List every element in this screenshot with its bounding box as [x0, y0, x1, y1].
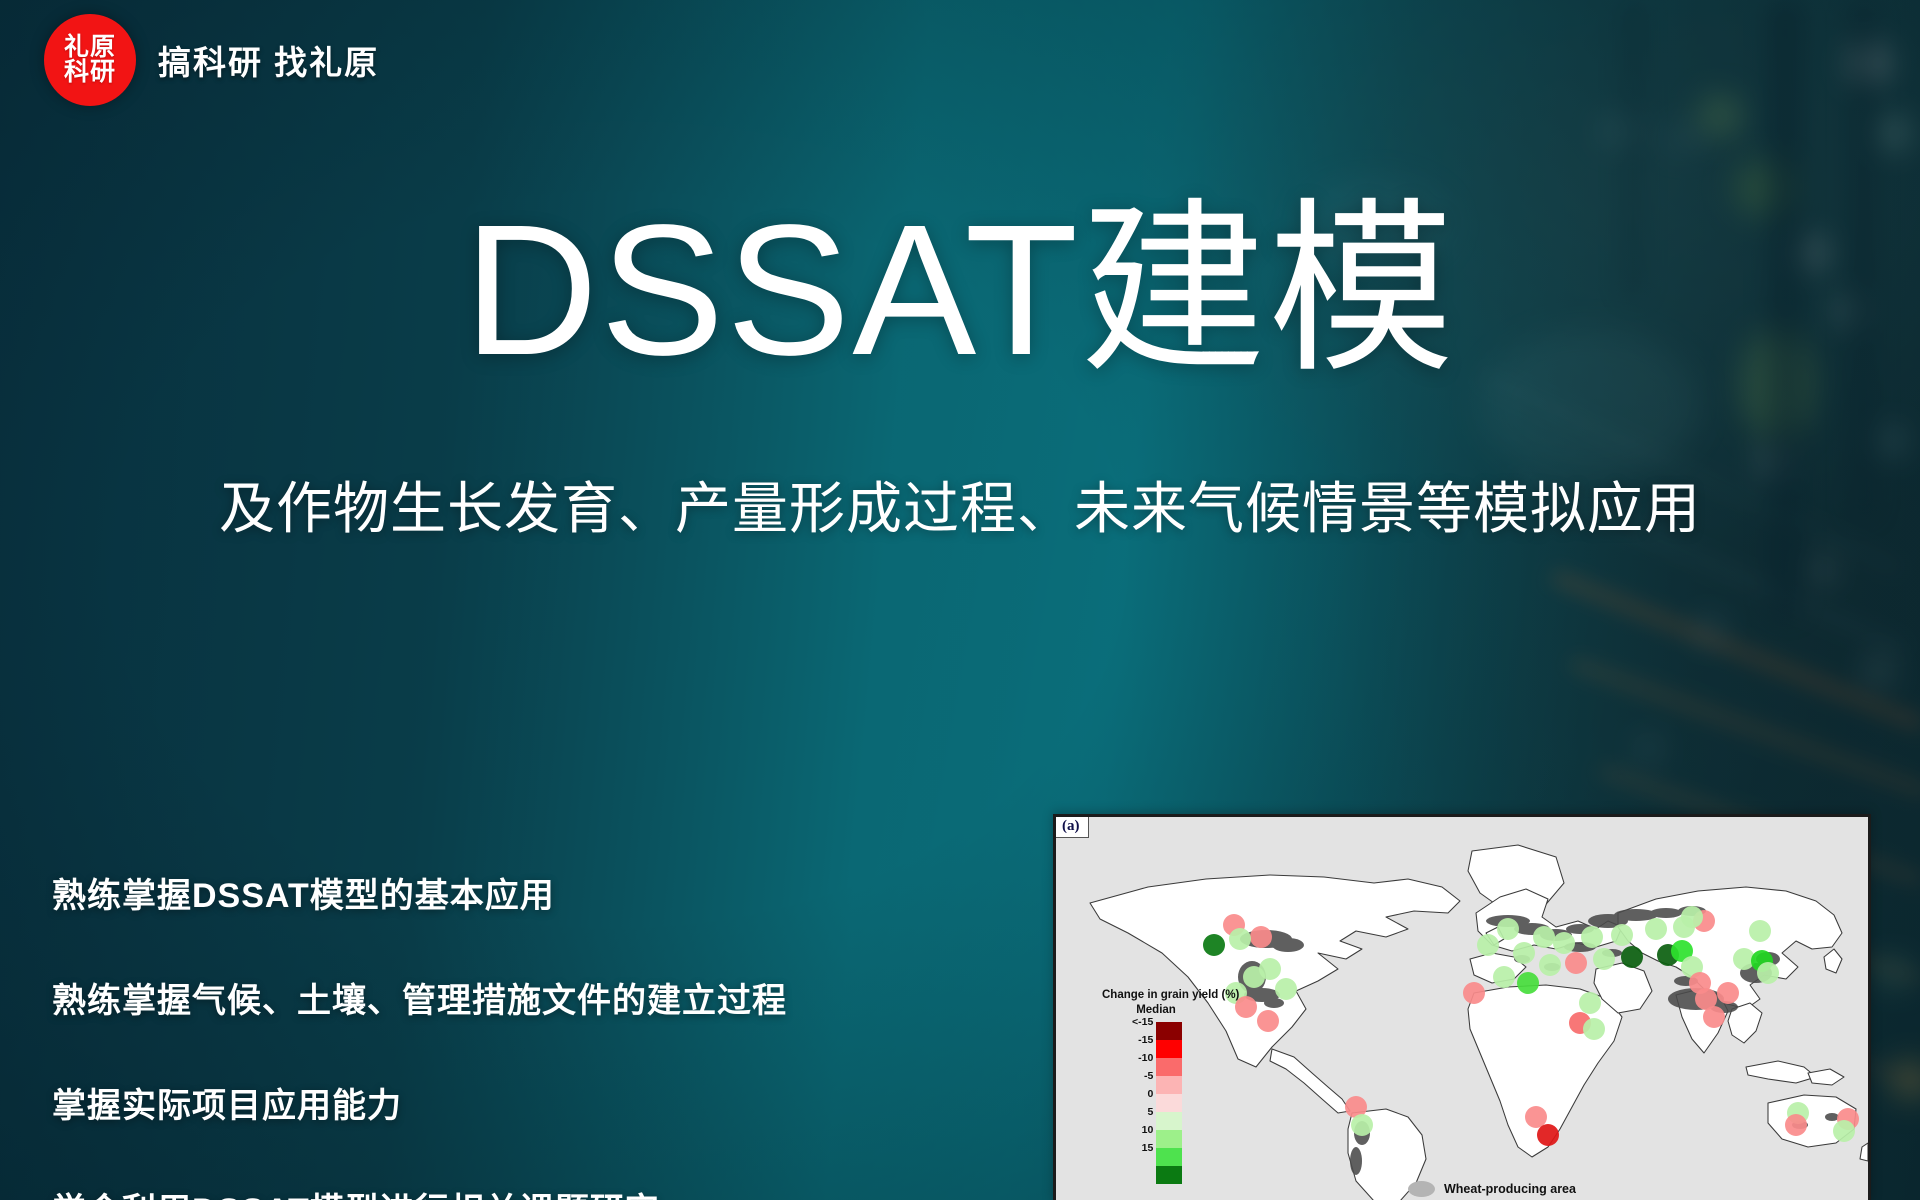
map-data-point — [1681, 906, 1703, 928]
map-data-point — [1275, 978, 1297, 1000]
page-subtitle-text: 及作物生长发育、产量形成过程、未来气候情景等模拟应用 — [219, 478, 1701, 540]
figure-legend: Change in grain yield (%) Median <-15-15… — [1102, 989, 1239, 1184]
list-item: 学会利用DSSAT模型进行相关课题研究 — [52, 1183, 787, 1200]
page-title: DSSAT建模 — [0, 198, 1920, 384]
map-data-point — [1493, 966, 1515, 988]
map-data-point — [1757, 962, 1779, 984]
map-data-point — [1517, 972, 1539, 994]
brand-tagline: 搞科研 找礼原 — [158, 36, 379, 84]
map-data-point — [1229, 928, 1251, 950]
logo-badge-line1: 礼原 — [64, 35, 116, 61]
logo-badge-line2: 科研 — [64, 60, 116, 86]
panel-label: (a) — [1056, 817, 1089, 838]
legend-tick: -15 — [1138, 1035, 1153, 1053]
map-data-point — [1645, 918, 1667, 940]
list-item: 熟练掌握气候、土壤、管理措施文件的建立过程 — [52, 973, 787, 1022]
legend-swatch — [1156, 1022, 1182, 1040]
presentation-slide: 礼原 科研 搞科研 找礼原 DSSAT建模 及作物生长发育、产量形成过程、未来气… — [0, 0, 1920, 1200]
legend-swatch — [1156, 1166, 1182, 1184]
world-map-figure: (a) Change in grain yield (%) Median <-1… — [1053, 814, 1871, 1200]
brand-logo: 礼原 科研 搞科研 找礼原 — [44, 14, 379, 106]
legend-swatch — [1156, 1148, 1182, 1166]
objectives-list: 熟练掌握DSSAT模型的基本应用 熟练掌握气候、土壤、管理措施文件的建立过程 掌… — [52, 868, 787, 1200]
wheat-area-swatch-icon — [1408, 1181, 1435, 1197]
legend-swatch — [1156, 1076, 1182, 1094]
legend-swatch — [1156, 1112, 1182, 1130]
map-data-point — [1611, 924, 1633, 946]
list-item: 熟练掌握DSSAT模型的基本应用 — [52, 868, 787, 917]
legend-swatch — [1156, 1040, 1182, 1058]
map-data-point — [1257, 1010, 1279, 1032]
map-data-point — [1351, 1114, 1373, 1136]
map-data-point — [1581, 926, 1603, 948]
legend-swatch — [1156, 1094, 1182, 1112]
legend-tick: <-15 — [1132, 1017, 1153, 1035]
list-item: 掌握实际项目应用能力 — [52, 1078, 787, 1127]
map-data-point — [1533, 926, 1555, 948]
logo-badge-icon: 礼原 科研 — [44, 14, 136, 106]
map-data-point — [1243, 966, 1265, 988]
map-data-point — [1621, 946, 1643, 968]
page-subtitle: 及作物生长发育、产量形成过程、未来气候情景等模拟应用 — [0, 478, 1920, 540]
legend-tick: -5 — [1144, 1071, 1153, 1089]
area-legend-label: Wheat-producing area — [1444, 1182, 1576, 1196]
map-data-point — [1717, 982, 1739, 1004]
map-data-point — [1749, 920, 1771, 942]
map-data-point — [1833, 1120, 1855, 1142]
map-data-point — [1539, 954, 1561, 976]
legend-swatch — [1156, 1058, 1182, 1076]
map-data-point — [1785, 1114, 1807, 1136]
map-data-point — [1537, 1124, 1559, 1146]
map-data-point — [1463, 982, 1485, 1004]
legend-tick-labels: <-15-15-10-5051015 — [1132, 1022, 1153, 1184]
map-data-point — [1703, 1006, 1725, 1028]
legend-tick: 10 — [1142, 1125, 1154, 1143]
page-title-text: DSSAT建模 — [464, 198, 1456, 384]
area-legend: Wheat-producing area — [1408, 1181, 1576, 1197]
map-data-point — [1513, 942, 1535, 964]
map-data-point — [1593, 948, 1615, 970]
map-data-point — [1565, 952, 1587, 974]
legend-title: Change in grain yield (%) — [1102, 989, 1239, 1001]
legend-swatch — [1156, 1130, 1182, 1148]
map-data-point — [1579, 992, 1601, 1014]
map-data-point — [1553, 932, 1575, 954]
map-data-point — [1497, 918, 1519, 940]
legend-color-swatches — [1156, 1022, 1182, 1184]
map-data-point — [1203, 934, 1225, 956]
map-data-point — [1477, 934, 1499, 956]
legend-tick: 5 — [1147, 1107, 1153, 1125]
map-data-point — [1583, 1018, 1605, 1040]
legend-colorbar: <-15-15-10-5051015 — [1132, 1022, 1239, 1184]
legend-subtitle: Median — [1102, 1004, 1210, 1016]
map-data-point — [1525, 1106, 1547, 1128]
legend-tick: 15 — [1142, 1143, 1154, 1161]
legend-tick: -10 — [1138, 1053, 1153, 1071]
legend-tick: 0 — [1147, 1089, 1153, 1107]
map-data-point — [1250, 926, 1272, 948]
